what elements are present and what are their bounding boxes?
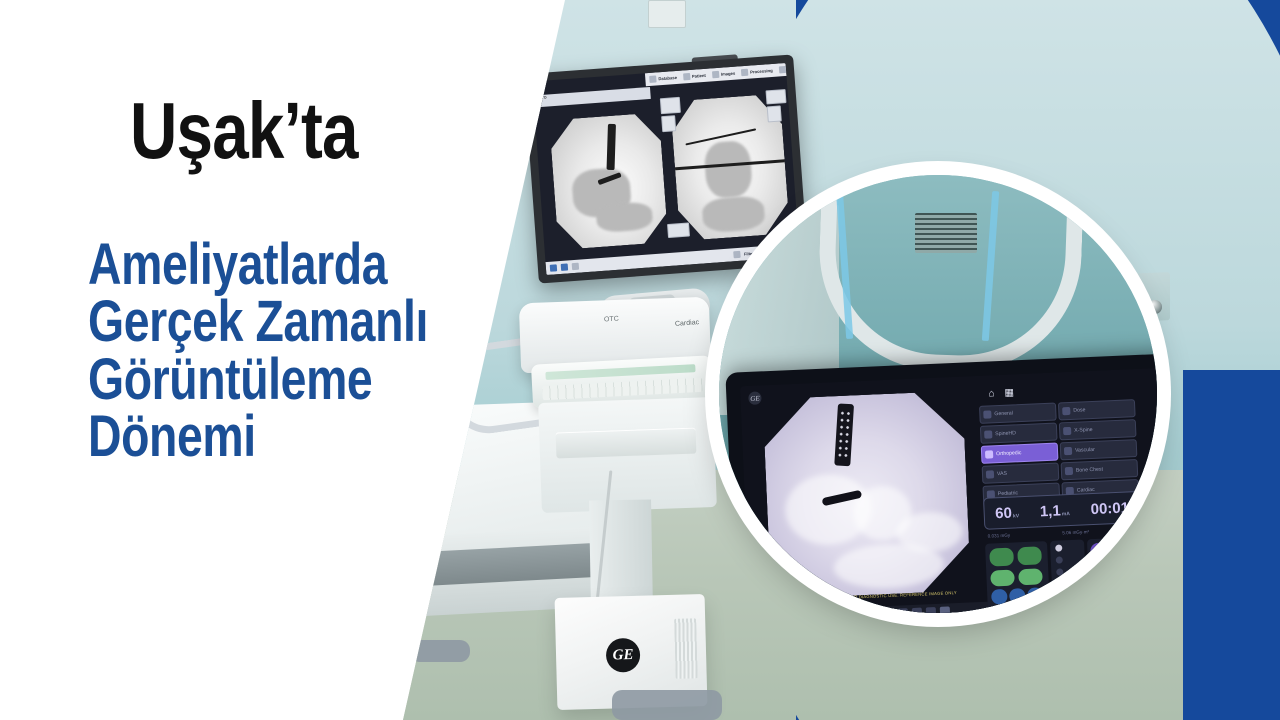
cart-drawer[interactable] [556, 428, 697, 459]
page-subtitle: Ameliyatlarda Gerçek Zamanlı Görüntüleme… [88, 236, 428, 466]
blue-arc-fill [1183, 370, 1280, 720]
toolbar-item-database: Database [649, 74, 677, 83]
footer-icon [572, 263, 579, 270]
bone-shadow [595, 201, 653, 233]
subtitle-line-3: Görüntüleme [88, 351, 428, 408]
ge-logo: GE [606, 638, 641, 673]
star-icon [778, 66, 785, 73]
lih-counter: LIH ☆3 [755, 593, 766, 611]
page-title: Uşak’ta [130, 94, 358, 168]
toolbar-label: Database [658, 75, 677, 81]
toolbar-label: Images [721, 71, 736, 77]
toolbar-item-patient: Patient [683, 72, 706, 81]
patient-icon [683, 73, 690, 80]
keyboard-strip [545, 364, 695, 380]
toolbar-item-processing: Processing [741, 67, 773, 76]
monitor-side-button[interactable] [766, 89, 787, 104]
monitor-side-button[interactable] [667, 222, 690, 238]
monitor-side-button[interactable] [767, 105, 782, 122]
subtitle-line-1: Ameliyatlarda [88, 236, 428, 293]
toolbar-label: Processing [750, 68, 773, 75]
vent-grille-icon [674, 618, 698, 679]
monitor-toolbar[interactable]: Database Patient Images Processing Appli… [645, 63, 787, 86]
headline-block: Uşak’ta Ameliyatlarda Gerçek Zamanlı Gör… [0, 0, 470, 720]
database-icon [649, 75, 656, 82]
poster-canvas: Database Patient Images Processing Appli… [0, 0, 1280, 720]
monitor-side-button[interactable] [660, 97, 681, 114]
ge-logo-small: GE [748, 391, 762, 405]
technique-readout: 60kVp9,4mA [754, 561, 771, 576]
footer-icon [561, 263, 568, 270]
processing-icon [741, 69, 748, 76]
monitor-info-bar: AUTO [533, 87, 651, 108]
machine-label-otc: OTC [604, 315, 619, 323]
footer-icon [550, 264, 557, 271]
subtitle-line-2: Gerçek Zamanlı [88, 293, 428, 350]
ceiling-fixture [648, 0, 686, 28]
caster-wheel [612, 690, 722, 720]
monitor-status-text: AUTO [536, 96, 547, 107]
xray-view-lateral [549, 112, 668, 250]
subtitle-line-4: Dönemi [88, 408, 428, 465]
monitor-meta [647, 88, 648, 98]
toolbar-label: Patient [692, 73, 706, 79]
monitor-side-button[interactable] [661, 115, 676, 132]
frame-count: 3 [760, 599, 767, 611]
toolbar-item-images: Images [712, 70, 736, 79]
implant-plate [607, 124, 616, 170]
images-icon [712, 71, 719, 78]
keyboard-keys[interactable] [542, 378, 703, 400]
